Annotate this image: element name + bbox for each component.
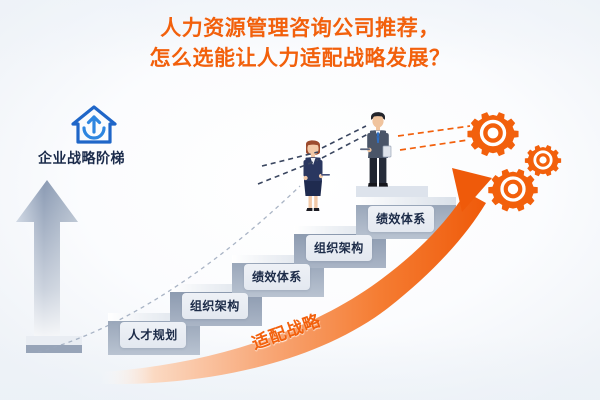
gear-medium-icon bbox=[525, 145, 561, 176]
title-line-2: 怎么选能让人力适配战略发展？ bbox=[0, 44, 600, 74]
title-line-1: 人力资源管理咨询公司推荐， bbox=[0, 14, 600, 44]
gear-large-icon bbox=[467, 112, 518, 156]
step-label-2: 组织架构 bbox=[182, 293, 248, 319]
house-up-arrow-icon bbox=[70, 104, 118, 151]
ladder-caption: 企业战略阶梯 bbox=[38, 148, 125, 168]
gear-bottom-icon bbox=[488, 169, 537, 212]
step-label-3: 绩效体系 bbox=[244, 264, 310, 290]
step-label-1: 人才规划 bbox=[120, 322, 186, 348]
step-label-5: 绩效体系 bbox=[368, 206, 434, 232]
step-label-4: 组织架构 bbox=[306, 235, 372, 261]
businessman-figure bbox=[356, 108, 400, 190]
businesswoman-figure bbox=[293, 136, 333, 214]
poster-canvas: 人力资源管理咨询公司推荐， 怎么选能让人力适配战略发展？ bbox=[0, 0, 600, 400]
page-title: 人力资源管理咨询公司推荐， 怎么选能让人力适配战略发展？ bbox=[0, 14, 600, 74]
gears-group bbox=[455, 100, 575, 230]
